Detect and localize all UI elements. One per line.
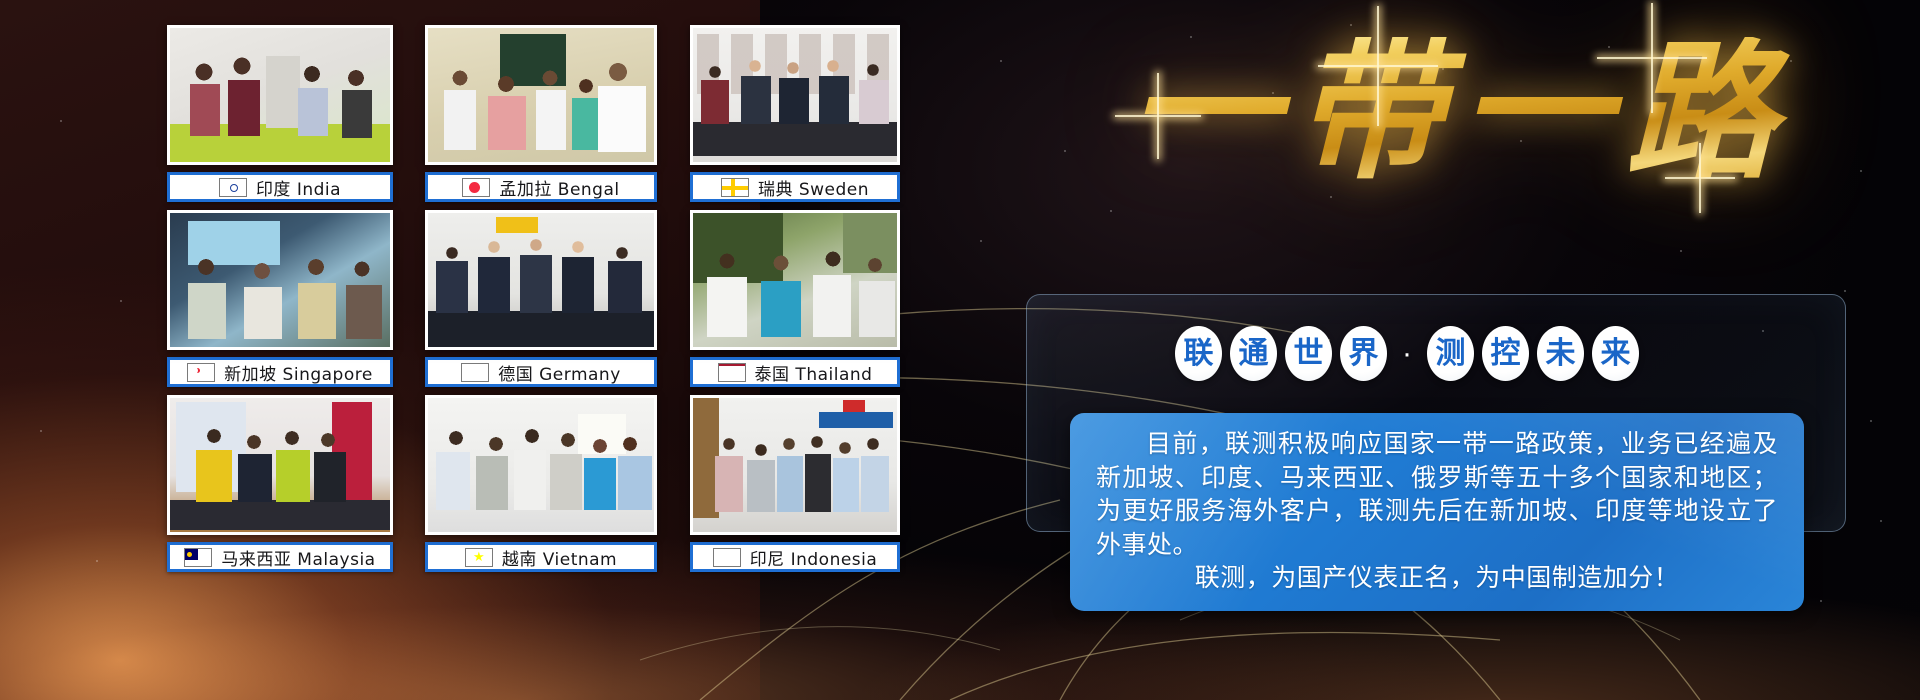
photo-caption-india: 印度 India [167, 172, 393, 202]
flag-thailand-icon [718, 363, 746, 382]
slogan-separator-dot: · [1395, 326, 1419, 381]
photo-card-vietnam[interactable]: 越南 Vietnam [425, 395, 657, 572]
slogan-char: 来 [1592, 326, 1639, 381]
flag-malaysia-icon [184, 548, 212, 567]
caption-label: 德国 Germany [498, 360, 621, 385]
caption-label: 新加坡 Singapore [224, 360, 373, 385]
slogan-row: 联 通 世 界 · 测 控 未 来 [1175, 326, 1639, 381]
gold-title-text: 一带一路 [1128, 37, 1792, 187]
caption-label: 马来西亚 Malaysia [221, 545, 375, 570]
caption-label: 孟加拉 Bengal [499, 175, 619, 200]
caption-label: 印度 India [256, 175, 341, 200]
photo-caption-singapore: 新加坡 Singapore [167, 357, 393, 387]
caption-label: 泰国 Thailand [755, 360, 873, 385]
flag-sweden-icon [721, 178, 749, 197]
partner-photo-grid: 印度 India 孟加拉 Bengal [167, 25, 927, 675]
photo-image-vietnam [425, 395, 657, 535]
slogan-char: 测 [1427, 326, 1474, 381]
slogan-char: 联 [1175, 326, 1222, 381]
description-paragraph-2: 联测，为国产仪表正名，为中国制造加分！ [1096, 561, 1778, 595]
flag-singapore-icon [187, 363, 215, 382]
photo-caption-bengal: 孟加拉 Bengal [425, 172, 657, 202]
photo-caption-vietnam: 越南 Vietnam [425, 542, 657, 572]
photo-image-thailand [690, 210, 900, 350]
photo-image-indonesia [690, 395, 900, 535]
photo-card-indonesia[interactable]: 印尼 Indonesia [690, 395, 900, 572]
flag-bangladesh-icon [462, 178, 490, 197]
flag-vietnam-icon [465, 548, 493, 567]
photo-image-malaysia [167, 395, 393, 535]
description-paragraph-1: 目前，联测积极响应国家一带一路政策，业务已经遍及新加坡、印度、马来西亚、俄罗斯等… [1096, 427, 1778, 561]
flag-germany-icon [461, 363, 489, 382]
flag-india-icon [219, 178, 247, 197]
photo-image-india [167, 25, 393, 165]
caption-label: 越南 Vietnam [502, 545, 617, 570]
photo-image-sweden [690, 25, 900, 165]
photo-caption-thailand: 泰国 Thailand [690, 357, 900, 387]
photo-caption-indonesia: 印尼 Indonesia [690, 542, 900, 572]
photo-card-bengal[interactable]: 孟加拉 Bengal [425, 25, 657, 202]
slogan-char: 通 [1230, 326, 1277, 381]
slogan-char: 世 [1285, 326, 1332, 381]
photo-caption-malaysia: 马来西亚 Malaysia [167, 542, 393, 572]
photo-card-thailand[interactable]: 泰国 Thailand [690, 210, 900, 387]
slogan-char: 界 [1340, 326, 1387, 381]
description-card: 目前，联测积极响应国家一带一路政策，业务已经遍及新加坡、印度、马来西亚、俄罗斯等… [1070, 413, 1804, 611]
photo-image-bengal [425, 25, 657, 165]
photo-image-singapore [167, 210, 393, 350]
flag-indonesia-icon [713, 548, 741, 567]
caption-label: 印尼 Indonesia [750, 545, 878, 570]
caption-label: 瑞典 Sweden [758, 175, 869, 200]
slogan-char: 未 [1537, 326, 1584, 381]
photo-caption-sweden: 瑞典 Sweden [690, 172, 900, 202]
photo-card-malaysia[interactable]: 马来西亚 Malaysia [167, 395, 393, 572]
photo-image-germany [425, 210, 657, 350]
photo-caption-germany: 德国 Germany [425, 357, 657, 387]
gold-calligraphy-title: 一带一路 [1040, 12, 1880, 212]
photo-card-singapore[interactable]: 新加坡 Singapore [167, 210, 393, 387]
belt-and-road-banner: 印度 India 孟加拉 Bengal [0, 0, 1920, 700]
photo-card-germany[interactable]: 德国 Germany [425, 210, 657, 387]
slogan-char: 控 [1482, 326, 1529, 381]
photo-card-india[interactable]: 印度 India [167, 25, 393, 202]
photo-card-sweden[interactable]: 瑞典 Sweden [690, 25, 900, 202]
